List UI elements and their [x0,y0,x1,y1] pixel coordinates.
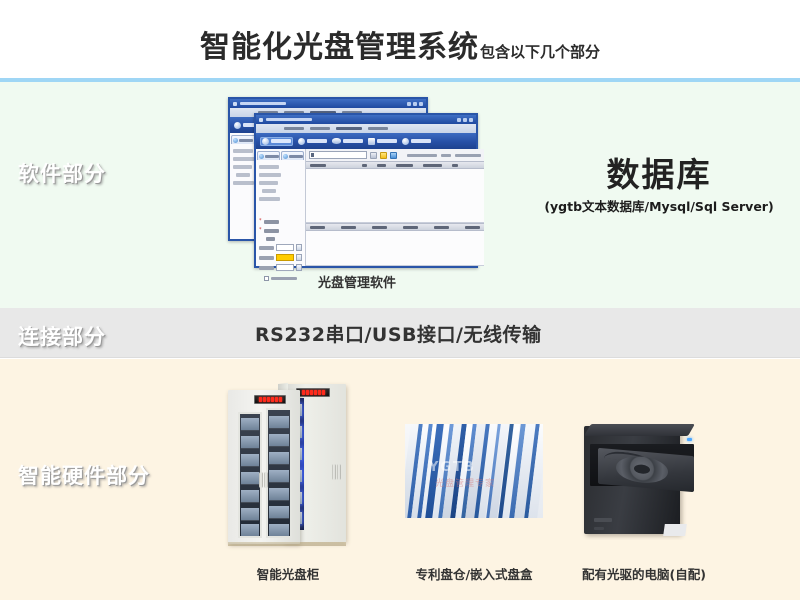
column-header[interactable] [452,164,458,167]
watermark-subtext: 光盘管理专家 [435,476,495,489]
form-label [259,246,274,250]
list-item [259,165,279,169]
column-header[interactable] [372,226,387,229]
window-body: * * [256,149,476,266]
form-input-highlighted[interactable] [276,254,294,261]
toolbar-button[interactable] [332,138,363,144]
window-title-text [266,118,312,121]
window-icon [259,118,263,122]
header: 智能化光盘管理系统包含以下几个部分 [0,0,800,78]
section-label-hardware: 智能硬件部分 [18,460,150,490]
cabinet-glass-door [266,408,292,538]
maximize-icon[interactable] [413,102,417,106]
required-field: * [259,219,302,224]
window-sidebar: * * [256,149,306,266]
sidebar-required-fields: * * [256,215,305,241]
disc-out-icon [298,138,305,145]
window-content [306,149,484,266]
menu-item[interactable] [368,127,388,130]
tab-label [265,155,279,158]
form-row [259,264,302,271]
window-icon [233,102,237,106]
toolbar-label [307,139,327,143]
cabinet-handle [337,464,341,480]
cabinet-floor-shadow [228,542,346,546]
export-icon[interactable] [390,152,397,159]
toolbar-label [343,139,363,143]
toolbar-button[interactable] [298,138,327,145]
table-body-bottom[interactable] [306,231,484,266]
toolbar-label [377,139,397,143]
smart-disc-cabinet-image [222,382,354,548]
search-icon[interactable] [370,152,377,159]
tab-label [289,155,303,158]
content-search-bar [306,149,484,161]
form-row [259,244,302,251]
status-text [455,154,481,157]
minimize-icon[interactable] [407,102,411,106]
form-row [259,254,302,261]
required-asterisk-icon: * [259,219,262,224]
database-block: 数据库 (ygtb文本数据库/Mysql/Sql Server) [528,158,790,215]
page-title-sub: 包含以下几个部分 [480,43,600,61]
page-title: 智能化光盘管理系统包含以下几个部分 [0,22,800,66]
column-header[interactable] [310,226,325,229]
sidebar-field-list [256,161,305,201]
tab-label [239,139,253,142]
search-status [407,154,481,157]
window-toolbar [256,133,476,149]
menu-item[interactable] [336,127,362,130]
column-header[interactable] [423,164,442,167]
cabinet-handle [332,464,336,480]
picker-button[interactable] [296,264,302,271]
column-header[interactable] [403,226,418,229]
app-window-front: * * [254,113,478,268]
table-body-top[interactable] [306,169,484,223]
picker-button[interactable] [296,254,302,261]
table-header-bottom [306,223,484,231]
hardware-caption-computer: 配有光驱的电脑(自配) [570,564,718,583]
required-asterisk-icon: * [259,228,262,233]
window-titlebar [230,99,426,108]
field-label [264,229,279,233]
table-header-top [306,161,484,169]
led-display-icon [254,395,286,404]
sidebar-tabs [256,149,305,161]
required-field: * [259,228,302,233]
watermark-text: YGTB [429,460,476,475]
page-title-main: 智能化光盘管理系统 [200,30,479,65]
pc-top-panel [584,424,695,436]
section-label-connection: 连接部分 [18,321,106,351]
column-header[interactable] [434,226,449,229]
software-caption: 光盘管理软件 [228,272,486,291]
cabinet-handle [264,472,268,488]
column-header[interactable] [362,164,367,167]
window-titlebar [256,115,476,124]
database-title: 数据库 [528,158,790,193]
list-item [236,173,250,177]
list-item [233,181,254,185]
disc-query-icon [332,138,341,144]
power-led-icon [687,438,692,441]
sidebar-tab-borrow[interactable] [257,151,280,160]
column-header[interactable] [310,164,326,167]
status-text [441,154,451,157]
window-title-text [240,102,286,105]
list-item [233,149,253,153]
toolbar-label [271,139,291,143]
tab-icon [259,154,264,159]
search-input[interactable] [309,151,367,159]
pc-front-button[interactable] [594,518,612,522]
window-controls [457,118,473,122]
tab-icon [233,138,238,143]
disc-in-icon [234,122,241,129]
folder-icon[interactable] [380,152,387,159]
menu-item[interactable] [284,127,304,130]
window-menubar [256,124,476,133]
search-icon [402,138,409,145]
settings-icon [368,138,375,145]
poster-root: 智能化光盘管理系统包含以下几个部分 软件部分 [0,0,800,600]
list-item [262,189,276,193]
list-item [233,157,255,161]
connection-interfaces-text: RS232串口/USB接口/无线传输 [255,320,541,347]
column-header[interactable] [377,164,386,167]
list-item [259,197,280,201]
sidebar-tab-return[interactable] [281,151,304,160]
tab-icon [283,154,288,159]
field-label [264,220,279,224]
list-item [233,165,252,169]
form-label [259,256,274,260]
pc-front-button[interactable] [594,527,604,530]
form-input[interactable] [276,264,294,271]
pc-front-label [663,524,687,536]
software-screenshot: * * [228,97,486,269]
toolbar-button-active[interactable] [260,137,293,146]
form-label [259,266,274,270]
column-header[interactable] [341,226,356,229]
section-label-software: 软件部分 [18,158,106,188]
search-caret [311,153,314,157]
close-icon[interactable] [419,102,423,106]
status-text [407,154,437,157]
cabinet-handle [259,472,263,488]
cabinet-left [228,390,300,544]
close-icon[interactable] [469,118,473,122]
window-controls [407,102,423,106]
list-item [259,181,278,185]
menu-item[interactable] [310,127,330,130]
picker-button[interactable] [296,244,302,251]
hardware-caption-cabinet: 智能光盘柜 [222,564,354,583]
disc-in-icon [262,138,269,145]
led-display-icon [296,388,330,397]
toolbar-button[interactable] [402,138,431,145]
form-input[interactable] [276,244,294,251]
database-subtitle: (ygtb文本数据库/Mysql/Sql Server) [528,196,790,215]
toolbar-label [411,139,431,143]
disc-cartridge-image: YGTB 光盘管理专家 [405,424,543,518]
computer-with-optical-drive-image [578,418,704,540]
list-item [259,173,281,177]
maximize-icon[interactable] [463,118,467,122]
minimize-icon[interactable] [457,118,461,122]
hardware-caption-cartridge: 专利盘仓/嵌入式盘盒 [398,564,550,583]
column-header[interactable] [396,164,413,167]
column-header[interactable] [465,226,480,229]
toolbar-button[interactable] [368,138,397,145]
